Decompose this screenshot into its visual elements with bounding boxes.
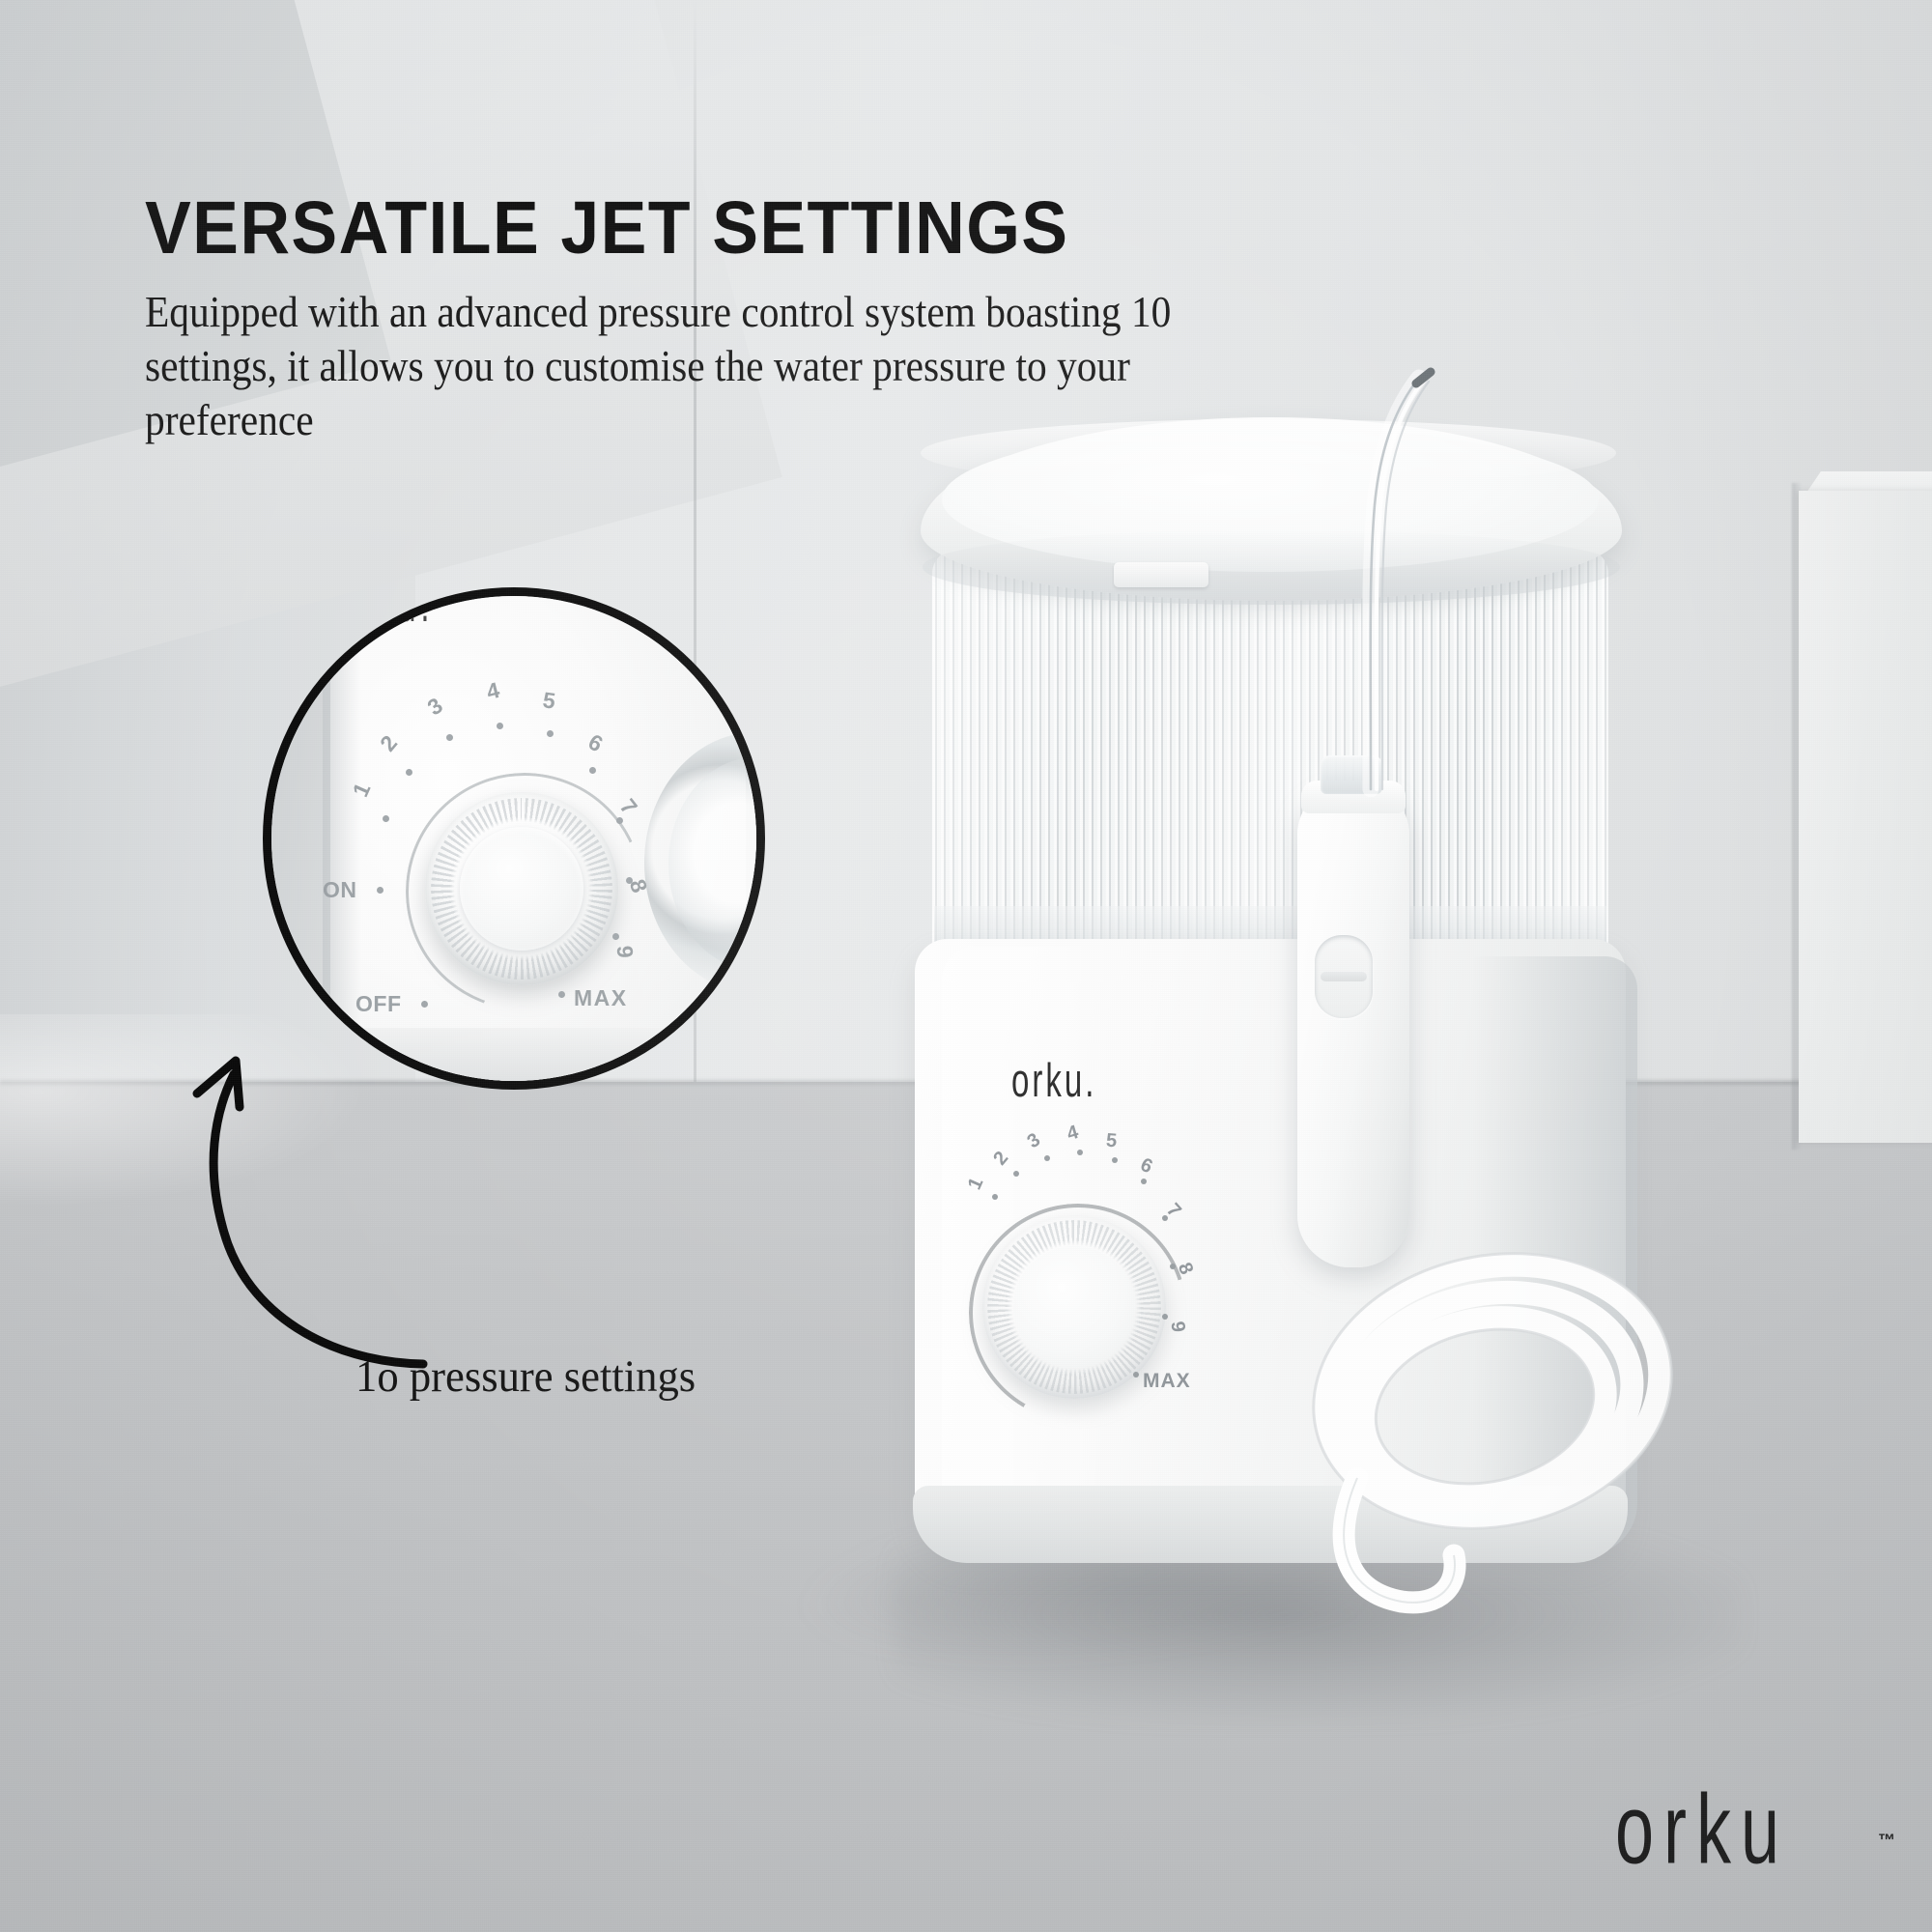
magnifier-content: rku. ON OFF 1 2 3 4 5 6 7 8 9 MAX (263, 587, 765, 1090)
product-dial-center (1013, 1246, 1135, 1368)
magnifier-dial-tick-3 (446, 734, 453, 741)
page-subtitle: Equipped with an advanced pressure contr… (145, 285, 1301, 447)
magnifier-dial-tick-6 (589, 767, 596, 774)
product-pressure-dial[interactable] (982, 1215, 1166, 1399)
magnifier-dial-tick-1 (383, 815, 389, 822)
magnifier-dial-tick-7 (616, 817, 623, 824)
product-dial-tick-1 (992, 1194, 998, 1200)
product-dial-tick-max (1133, 1372, 1139, 1378)
magnifier-callout-circle: rku. ON OFF 1 2 3 4 5 6 7 8 9 MAX (263, 587, 765, 1090)
product-dial-label-9: 9 (1166, 1321, 1189, 1333)
magnifier-dial-label-off: OFF (355, 991, 402, 1017)
magnifier-dial-tick-off (421, 1001, 428, 1008)
magnifier-dial-tick-5 (547, 730, 554, 737)
callout-caption: 1o pressure settings (355, 1350, 696, 1403)
product-dial-tick-7 (1162, 1215, 1168, 1221)
product-dial-tick-8 (1170, 1264, 1176, 1269)
product-power-cord (1212, 1236, 1753, 1623)
product-image-water-flosser: orku. 1 2 3 4 5 6 7 8 9 MAX (932, 502, 1763, 1690)
product-dial-tick-6 (1141, 1179, 1147, 1184)
product-handle-button-slot (1321, 972, 1367, 981)
product-dial-label-max: MAX (1143, 1370, 1191, 1393)
magnifier-dial-label-9: 9 (611, 945, 638, 958)
product-lid-latch (1114, 562, 1208, 587)
product-jet-nozzle (1276, 343, 1469, 797)
page-title: VERSATILE JET SETTINGS (145, 185, 1068, 271)
magnifier-dial-tick-on (377, 887, 384, 894)
magnifier-dial-label-on: ON (323, 877, 357, 903)
product-water-tank (932, 549, 1608, 974)
product-handle[interactable] (1297, 784, 1409, 1267)
magnifier-dial-tick-9 (612, 933, 619, 940)
product-dial-label-5: 5 (1105, 1130, 1118, 1153)
product-brand-mark: orku. (1011, 1053, 1096, 1108)
product-dial-tick-3 (1044, 1155, 1050, 1161)
product-dial-tick-4 (1077, 1150, 1083, 1155)
trademark-symbol: ™ (1878, 1831, 1896, 1851)
product-dial-tick-2 (1013, 1171, 1019, 1177)
magnifier-dial-tick-max (558, 991, 565, 998)
magnifier-knob-center (460, 827, 583, 951)
product-feature-graphic: VERSATILE JET SETTINGS Equipped with an … (0, 0, 1932, 1932)
magnifier-dial-tick-4 (497, 723, 503, 729)
product-dial-tick-9 (1162, 1314, 1168, 1320)
background-right-block (1799, 491, 1932, 1143)
magnifier-dial-label-max: MAX (574, 985, 628, 1011)
product-dial-tick-5 (1112, 1157, 1118, 1163)
magnifier-dial-tick-2 (406, 769, 412, 776)
magnifier-dial-tick-8 (626, 877, 633, 884)
brand-logo: orku (1615, 1774, 1789, 1886)
magnifier-pressure-knob[interactable] (425, 792, 618, 985)
product-tank-lid-rim (923, 529, 1620, 605)
